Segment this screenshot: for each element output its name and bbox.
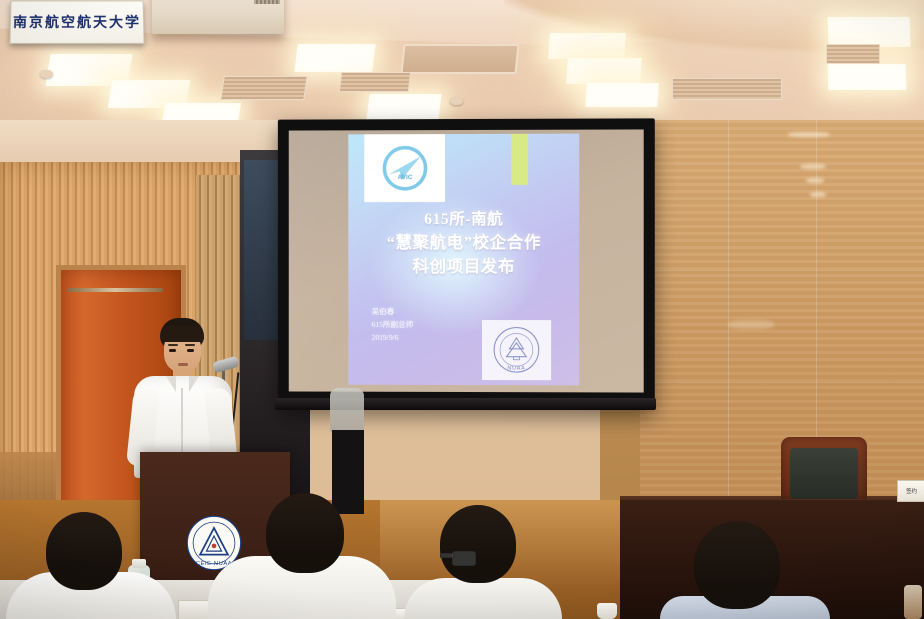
audience-member-1-head [46, 512, 122, 590]
projection-screen-surface: AVIC 615所-南航 “慧聚航电”校企合作 科创项目发布 吴伯春 615所副… [289, 129, 644, 392]
avic-logo: AVIC [365, 134, 446, 202]
standing-person-shirt [330, 388, 364, 432]
ceiling-light [366, 94, 441, 120]
presentation-slide: AVIC 615所-南航 “慧聚航电”校企合作 科创项目发布 吴伯春 615所副… [349, 134, 580, 386]
slide-title: 615所-南航 “慧聚航电”校企合作 科创项目发布 [349, 209, 580, 278]
slide-title-line-2: “慧聚航电”校企合作 [349, 231, 580, 255]
lecture-hall-photo: AVIC 615所-南航 “慧聚航电”校企合作 科创项目发布 吴伯春 615所副… [0, 0, 924, 619]
svg-text:NUAA: NUAA [508, 366, 526, 372]
projector-vent [254, 0, 280, 4]
smoke-detector-icon [450, 97, 463, 105]
ceiling-return-grille [826, 44, 880, 64]
presenter-mouth [178, 363, 188, 366]
ceiling-light [548, 33, 626, 59]
projection-screen: AVIC 615所-南航 “慧聚航电”校企合作 科创项目发布 吴伯春 615所副… [278, 118, 655, 409]
audience-member-3-head [440, 505, 516, 583]
ceiling-air-vent [400, 44, 519, 74]
audience-member-3 [404, 578, 562, 619]
audience-member-2-head [266, 493, 344, 573]
smoke-detector-icon [40, 70, 53, 78]
standing-person-in-shadow [326, 388, 382, 514]
slide-date: 2019/9/6 [372, 331, 414, 344]
slide-presenter-title: 615所副总师 [372, 318, 414, 331]
water-bottle [904, 585, 922, 619]
slide-presenter-name: 吴伯春 [372, 305, 414, 318]
slide-accent-bar [511, 134, 528, 186]
table-nameplate: 签约 [897, 480, 924, 502]
paper-cup [597, 603, 617, 619]
ceiling-return-grille [220, 76, 307, 100]
audience-member-3-glasses [452, 551, 476, 566]
water-bottle-cap [132, 559, 146, 568]
ceiling-return-grille [339, 72, 411, 92]
ceiling-light [828, 64, 907, 90]
ceiling-light [585, 83, 659, 107]
podium-nameplate-label: 南京航空航天大学 [13, 12, 141, 32]
ceiling-return-grille [672, 78, 782, 100]
ceiling-light [294, 44, 375, 72]
presenter-collar-left [166, 376, 176, 392]
presenter-collar-right [189, 376, 199, 392]
ceiling-projector [152, 0, 284, 34]
podium-nameplate: 南京航空航天大学 [9, 0, 144, 43]
conference-chair-seat [790, 448, 858, 499]
svg-text:AVIC: AVIC [397, 174, 412, 181]
slide-title-line-1: 615所-南航 [349, 209, 580, 231]
standing-person-legs [332, 430, 364, 514]
audience-member-4-head [694, 521, 780, 609]
slide-title-line-3: 科创项目发布 [349, 255, 580, 278]
nuaa-seal-logo: NUAA [482, 320, 551, 381]
ceiling-light [566, 58, 642, 84]
slide-presenter-block: 吴伯春 615所副总师 2019/9/6 [372, 305, 414, 344]
presenter-fringe [161, 326, 204, 342]
ceiling-light [827, 17, 910, 47]
audience-member-3-glasses-arm [440, 553, 454, 558]
door-handle[interactable] [67, 288, 163, 292]
table-nameplate-label: 签约 [906, 487, 917, 495]
